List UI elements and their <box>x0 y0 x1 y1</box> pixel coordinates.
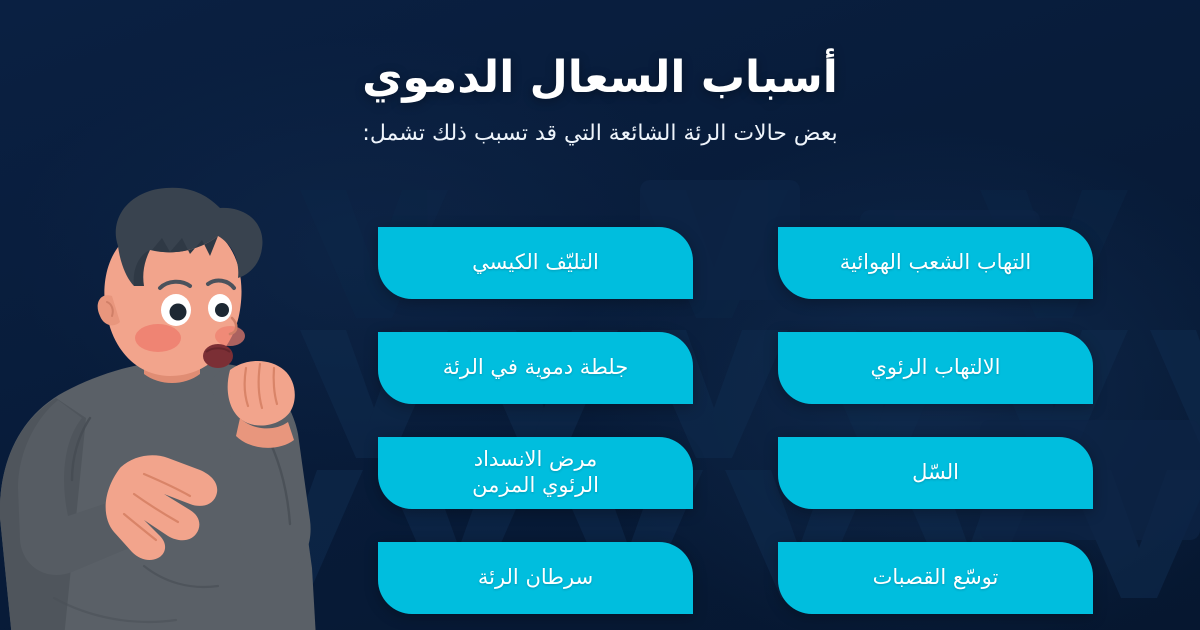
infographic-canvas: أسباب السعال الدموي بعض حالات الرئة الشا… <box>0 0 1200 630</box>
cause-card-bronchitis[interactable]: التهاب الشعب الهوائية <box>778 227 1093 299</box>
cause-card-label: مرض الانسداد الرئوي المزمن <box>472 447 599 498</box>
cause-card-label: التليّف الكيسي <box>472 250 599 276</box>
page-subtitle: بعض حالات الرئة الشائعة التي قد تسبب ذلك… <box>0 120 1200 149</box>
cause-card-label: التهاب الشعب الهوائية <box>840 250 1032 276</box>
cause-card-lung-cancer[interactable]: سرطان الرئة <box>378 542 693 614</box>
coughing-man-illustration <box>0 168 344 630</box>
cause-card-label: السّل <box>912 460 959 486</box>
cause-card-tuberculosis[interactable]: السّل <box>778 437 1093 509</box>
cause-card-pneumonia[interactable]: الالتهاب الرئوي <box>778 332 1093 404</box>
cause-card-bronchiectasis[interactable]: توسّع القصبات <box>778 542 1093 614</box>
cause-card-label: سرطان الرئة <box>478 565 593 591</box>
cause-card-label: جلطة دموية في الرئة <box>443 355 628 381</box>
cause-card-label: الالتهاب الرئوي <box>870 355 1000 381</box>
cause-card-copd[interactable]: مرض الانسداد الرئوي المزمن <box>378 437 693 509</box>
page-title: أسباب السعال الدموي <box>0 52 1200 104</box>
causes-card-grid: التهاب الشعب الهوائية التليّف الكيسي الا… <box>378 227 1093 617</box>
cause-card-pulmonary-clot[interactable]: جلطة دموية في الرئة <box>378 332 693 404</box>
cause-card-label: توسّع القصبات <box>873 565 999 591</box>
header: أسباب السعال الدموي بعض حالات الرئة الشا… <box>0 52 1200 149</box>
cause-card-cystic-fibrosis[interactable]: التليّف الكيسي <box>378 227 693 299</box>
